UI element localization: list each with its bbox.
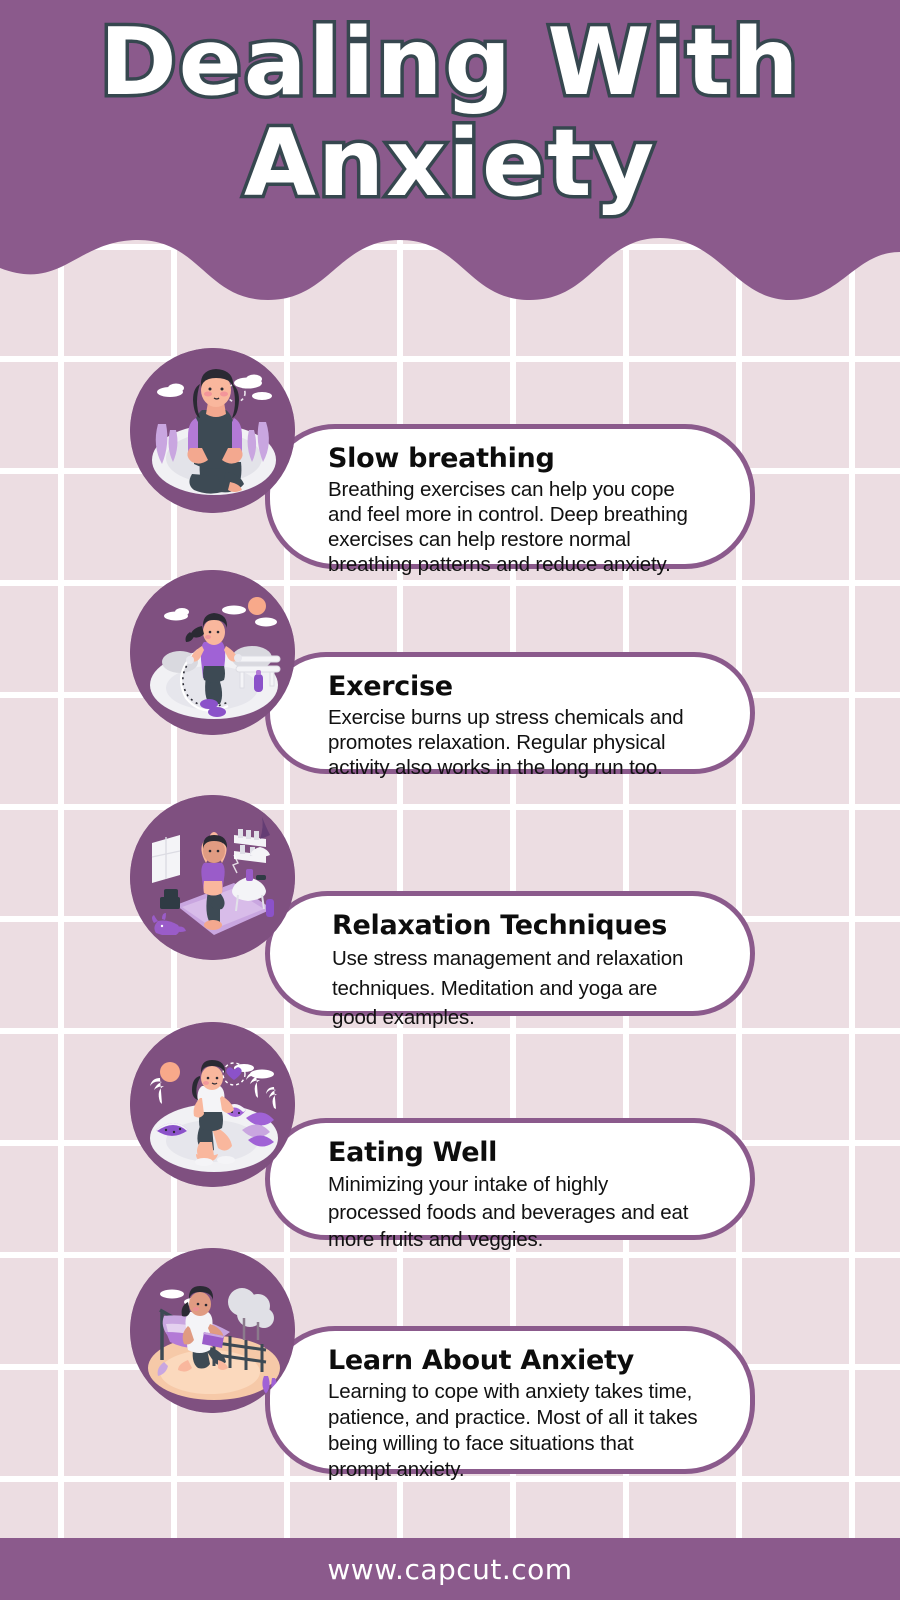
tip-body: Use stress management and relaxation tec… [332,944,716,1033]
tip-body: Learning to cope with anxiety takes time… [328,1379,716,1483]
tip-row-5: Learn About Anxiety Learning to cope wit… [0,1248,900,1478]
avatar-woman-yoga-tree-pose-with-cat-icon [130,795,295,960]
tip-body: Exercise burns up stress chemicals and p… [328,705,716,781]
tip-card-3[interactable]: Relaxation Techniques Use stress managem… [265,891,755,1016]
avatar-woman-eating-watermelon-icon [130,1022,295,1187]
avatar-woman-reading-in-hammock-icon [130,1248,295,1413]
tip-body: Minimizing your intake of highly process… [328,1171,716,1254]
page-title: Dealing With Anxiety [0,16,900,210]
title-line-2: Anxiety [0,117,900,210]
tip-row-4: Eating Well Minimizing your intake of hi… [0,1022,900,1247]
footer-url[interactable]: www.capcut.com [327,1553,572,1586]
tip-row-1: Slow breathing Breathing exercises can h… [0,348,900,573]
tip-card-1[interactable]: Slow breathing Breathing exercises can h… [265,424,755,569]
avatar-woman-jumping-rope-icon [130,570,295,735]
avatar-woman-meditating-lotus-pose-icon [130,348,295,513]
footer-bar: www.capcut.com [0,1538,900,1600]
infographic-poster: Dealing With Anxiety [0,0,900,1600]
tip-body: Breathing exercises can help you cope an… [328,477,716,578]
tip-card-4[interactable]: Eating Well Minimizing your intake of hi… [265,1118,755,1240]
tip-title: Slow breathing [328,443,716,475]
header-banner: Dealing With Anxiety [0,0,900,320]
tip-row-2: Exercise Exercise burns up stress chemic… [0,570,900,795]
tip-title: Eating Well [328,1137,716,1169]
tip-card-5[interactable]: Learn About Anxiety Learning to cope wit… [265,1326,755,1474]
tip-row-3: Relaxation Techniques Use stress managem… [0,795,900,1020]
title-line-1: Dealing With [0,16,900,109]
tip-card-2[interactable]: Exercise Exercise burns up stress chemic… [265,652,755,774]
tip-title: Learn About Anxiety [328,1345,716,1377]
tip-title: Relaxation Techniques [332,910,716,942]
tip-title: Exercise [328,671,716,703]
